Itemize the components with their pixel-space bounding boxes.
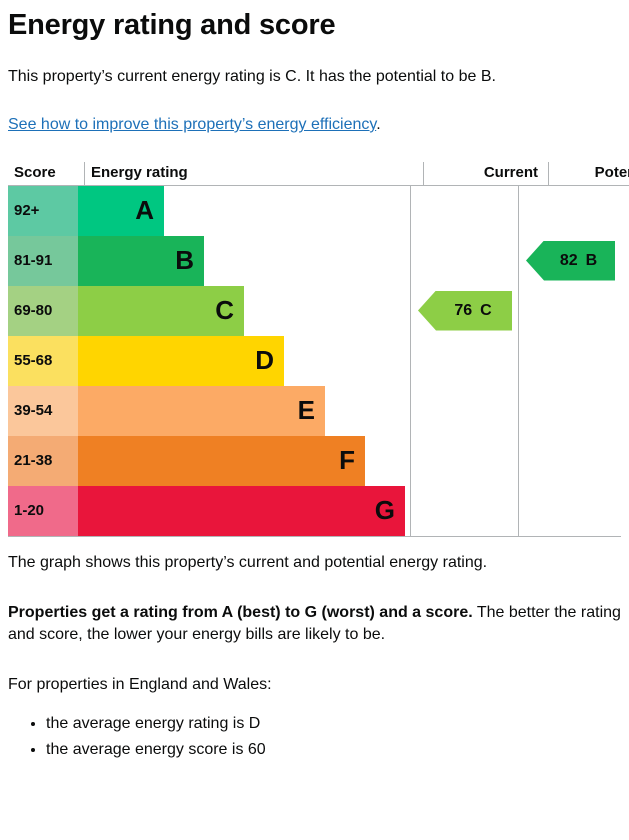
column-header-energy-rating: Energy rating xyxy=(85,162,424,185)
band-row: 1-20G xyxy=(8,486,621,536)
band-row: 69-80C xyxy=(8,286,621,336)
energy-rating-page: Energy rating and score This property’s … xyxy=(0,8,629,840)
graph-note: The graph shows this property’s current … xyxy=(8,552,621,574)
improve-efficiency-link[interactable]: See how to improve this property’s energ… xyxy=(8,116,376,133)
band-score-range: 69-80 xyxy=(8,286,78,336)
energy-rating-graph-table: Score Energy rating Current Potential xyxy=(8,162,629,186)
band-bar-a: A xyxy=(78,186,164,236)
page-title: Energy rating and score xyxy=(8,8,621,42)
column-header-potential: Potential xyxy=(549,162,629,185)
graph-explanation: The graph shows this property’s current … xyxy=(8,552,621,762)
band-row: 39-54E xyxy=(8,386,621,436)
band-bar-b: B xyxy=(78,236,204,286)
average-ratings-list: the average energy rating is Dthe averag… xyxy=(8,712,621,762)
list-item: the average energy rating is D xyxy=(46,712,621,736)
band-bar-f: F xyxy=(78,436,365,486)
band-score-range: 55-68 xyxy=(8,336,78,386)
band-bar-g: G xyxy=(78,486,405,536)
region-intro: For properties in England and Wales: xyxy=(8,674,621,696)
rating-explanation: Properties get a rating from A (best) to… xyxy=(8,602,621,646)
column-header-score: Score xyxy=(8,162,85,185)
potential-rating-score: 82 xyxy=(560,252,578,270)
band-row: 21-38F xyxy=(8,436,621,486)
column-divider-potential xyxy=(518,186,519,536)
band-score-range: 39-54 xyxy=(8,386,78,436)
band-score-range: 92+ xyxy=(8,186,78,236)
link-trailing-period: . xyxy=(376,116,380,133)
current-rating-summary: This property’s current energy rating is… xyxy=(8,66,621,88)
band-bar-e: E xyxy=(78,386,325,436)
current-rating-arrow: 76 C xyxy=(418,291,512,331)
improve-efficiency-paragraph: See how to improve this property’s energ… xyxy=(8,114,621,136)
band-score-range: 81-91 xyxy=(8,236,78,286)
table-header-row: Score Energy rating Current Potential xyxy=(8,162,629,185)
energy-rating-bands: 1-20G21-38F39-54E55-68D69-80C81-91B92+A … xyxy=(8,186,621,536)
band-row: 92+A xyxy=(8,186,621,236)
table-bottom-border xyxy=(8,536,621,537)
band-score-range: 21-38 xyxy=(8,436,78,486)
list-item: the average energy score is 60 xyxy=(46,738,621,762)
current-rating-band: C xyxy=(480,302,492,320)
potential-rating-arrow: 82 B xyxy=(526,241,615,281)
table-header: Score Energy rating Current Potential xyxy=(8,162,629,185)
band-bar-d: D xyxy=(78,336,284,386)
current-rating-score: 76 xyxy=(454,302,472,320)
band-row: 55-68D xyxy=(8,336,621,386)
rating-explanation-bold: Properties get a rating from A (best) to… xyxy=(8,604,473,621)
column-divider-current xyxy=(410,186,411,536)
band-score-range: 1-20 xyxy=(8,486,78,536)
band-bar-c: C xyxy=(78,286,244,336)
potential-rating-band: B xyxy=(586,252,598,270)
column-header-current: Current xyxy=(424,162,549,185)
